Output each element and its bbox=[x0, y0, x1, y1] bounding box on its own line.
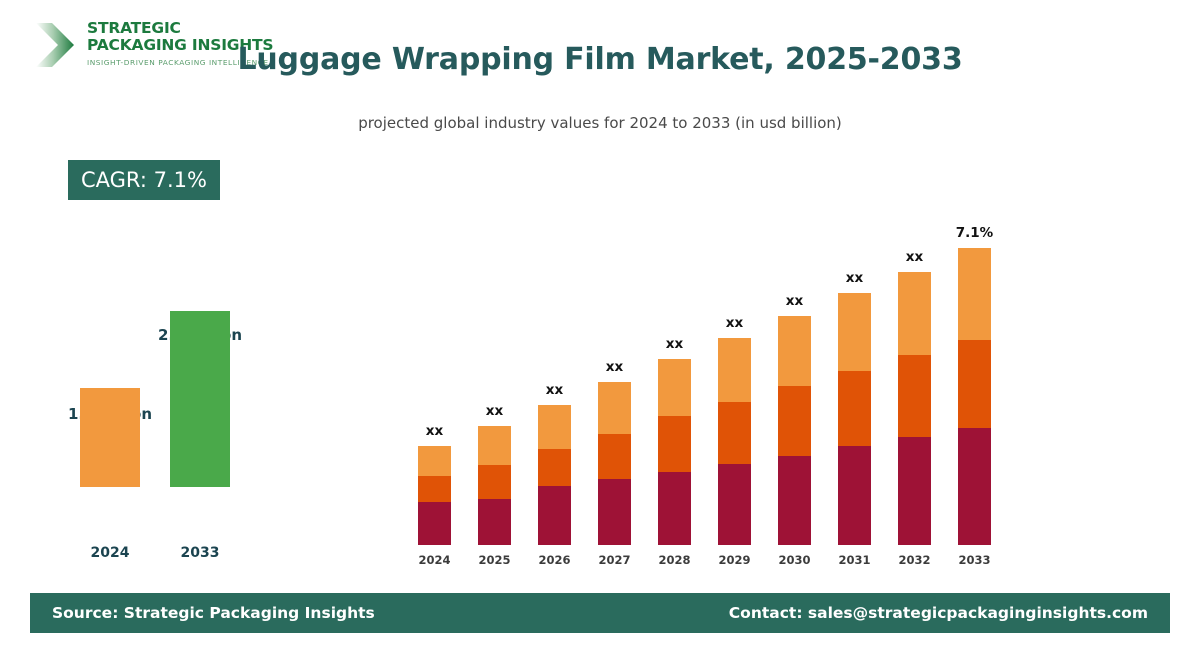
bar-value-label: xx bbox=[465, 403, 525, 419]
bar-year-label: 2026 bbox=[525, 553, 585, 567]
bar-segment-top bbox=[958, 248, 991, 340]
stacked-bar-column[interactable]: xx2031 bbox=[838, 180, 871, 570]
stacked-bar[interactable] bbox=[898, 272, 931, 545]
bar-segment-top bbox=[898, 272, 931, 355]
stacked-bar-column[interactable]: xx2030 bbox=[778, 180, 811, 570]
bar-value-label: xx bbox=[705, 315, 765, 331]
stacked-bar-column[interactable]: xx2024 bbox=[418, 180, 451, 570]
bar-year-label: 2030 bbox=[765, 553, 825, 567]
bar-segment-bottom bbox=[838, 446, 871, 545]
bar-segment-bottom bbox=[958, 428, 991, 545]
bar-segment-top bbox=[418, 446, 451, 476]
footer-bar: Source: Strategic Packaging Insights Con… bbox=[30, 593, 1170, 633]
bar-value-label: xx bbox=[645, 336, 705, 352]
bar-segment-middle bbox=[958, 340, 991, 428]
bar-value-label: xx bbox=[525, 382, 585, 398]
bar-segment-bottom bbox=[658, 472, 691, 545]
summary-panel: 1.2 billion 2.3 billion 2024 2033 bbox=[0, 0, 330, 600]
stacked-bar[interactable] bbox=[598, 382, 631, 545]
bar-segment-middle bbox=[538, 449, 571, 486]
bar-value-label: 7.1% bbox=[945, 225, 1005, 241]
bar-segment-middle bbox=[598, 434, 631, 479]
bar-segment-top bbox=[598, 382, 631, 434]
bar-value-label: xx bbox=[825, 270, 885, 286]
bar-segment-top bbox=[478, 426, 511, 465]
stacked-bar-column[interactable]: xx2028 bbox=[658, 180, 691, 570]
footer-contact-text: Contact: sales@strategicpackaginginsight… bbox=[729, 593, 1148, 633]
stacked-bar-column[interactable]: xx2029 bbox=[718, 180, 751, 570]
bar-year-label: 2029 bbox=[705, 553, 765, 567]
bar-segment-top bbox=[778, 316, 811, 386]
bar-segment-top bbox=[658, 359, 691, 416]
bar-value-label: xx bbox=[765, 293, 825, 309]
summary-end-year: 2033 bbox=[135, 545, 265, 561]
bar-segment-top bbox=[538, 405, 571, 449]
bar-segment-bottom bbox=[538, 486, 571, 545]
bar-segment-middle bbox=[478, 465, 511, 499]
bar-segment-top bbox=[838, 293, 871, 371]
bar-segment-bottom bbox=[718, 464, 751, 545]
stacked-bar-column[interactable]: xx2032 bbox=[898, 180, 931, 570]
bar-segment-middle bbox=[898, 355, 931, 437]
stacked-bar-chart: xx2024xx2025xx2026xx2027xx2028xx2029xx20… bbox=[400, 180, 1020, 570]
bar-segment-bottom bbox=[598, 479, 631, 545]
stacked-bar[interactable] bbox=[478, 426, 511, 545]
stacked-bar[interactable] bbox=[418, 446, 451, 545]
bar-segment-middle bbox=[778, 386, 811, 456]
bar-value-label: xx bbox=[885, 249, 945, 265]
footer-source-text: Source: Strategic Packaging Insights bbox=[52, 593, 375, 633]
bar-segment-bottom bbox=[418, 502, 451, 545]
stacked-bar[interactable] bbox=[718, 338, 751, 545]
bar-year-label: 2031 bbox=[825, 553, 885, 567]
bar-segment-bottom bbox=[898, 437, 931, 545]
bar-segment-middle bbox=[658, 416, 691, 472]
stacked-bar[interactable] bbox=[538, 405, 571, 545]
stacked-bar[interactable] bbox=[958, 248, 991, 545]
stacked-bar-column[interactable]: xx2026 bbox=[538, 180, 571, 570]
bar-segment-middle bbox=[838, 371, 871, 446]
stacked-bar[interactable] bbox=[658, 359, 691, 545]
bar-year-label: 2032 bbox=[885, 553, 945, 567]
bar-value-label: xx bbox=[405, 423, 465, 439]
bar-segment-top bbox=[718, 338, 751, 402]
bar-segment-middle bbox=[718, 402, 751, 464]
bar-value-label: xx bbox=[585, 359, 645, 375]
stacked-bar-column[interactable]: 7.1%2033 bbox=[958, 180, 991, 570]
bar-year-label: 2025 bbox=[465, 553, 525, 567]
bar-year-label: 2028 bbox=[645, 553, 705, 567]
bar-segment-middle bbox=[418, 476, 451, 502]
stacked-bar-column[interactable]: xx2025 bbox=[478, 180, 511, 570]
bar-year-label: 2033 bbox=[945, 553, 1005, 567]
summary-end-bar bbox=[170, 311, 230, 487]
bar-year-label: 2024 bbox=[405, 553, 465, 567]
stacked-bar[interactable] bbox=[838, 293, 871, 545]
summary-start-bar bbox=[80, 388, 140, 487]
bar-year-label: 2027 bbox=[585, 553, 645, 567]
stacked-bar[interactable] bbox=[778, 316, 811, 545]
bar-segment-bottom bbox=[478, 499, 511, 545]
bar-segment-bottom bbox=[778, 456, 811, 545]
stacked-bar-column[interactable]: xx2027 bbox=[598, 180, 631, 570]
